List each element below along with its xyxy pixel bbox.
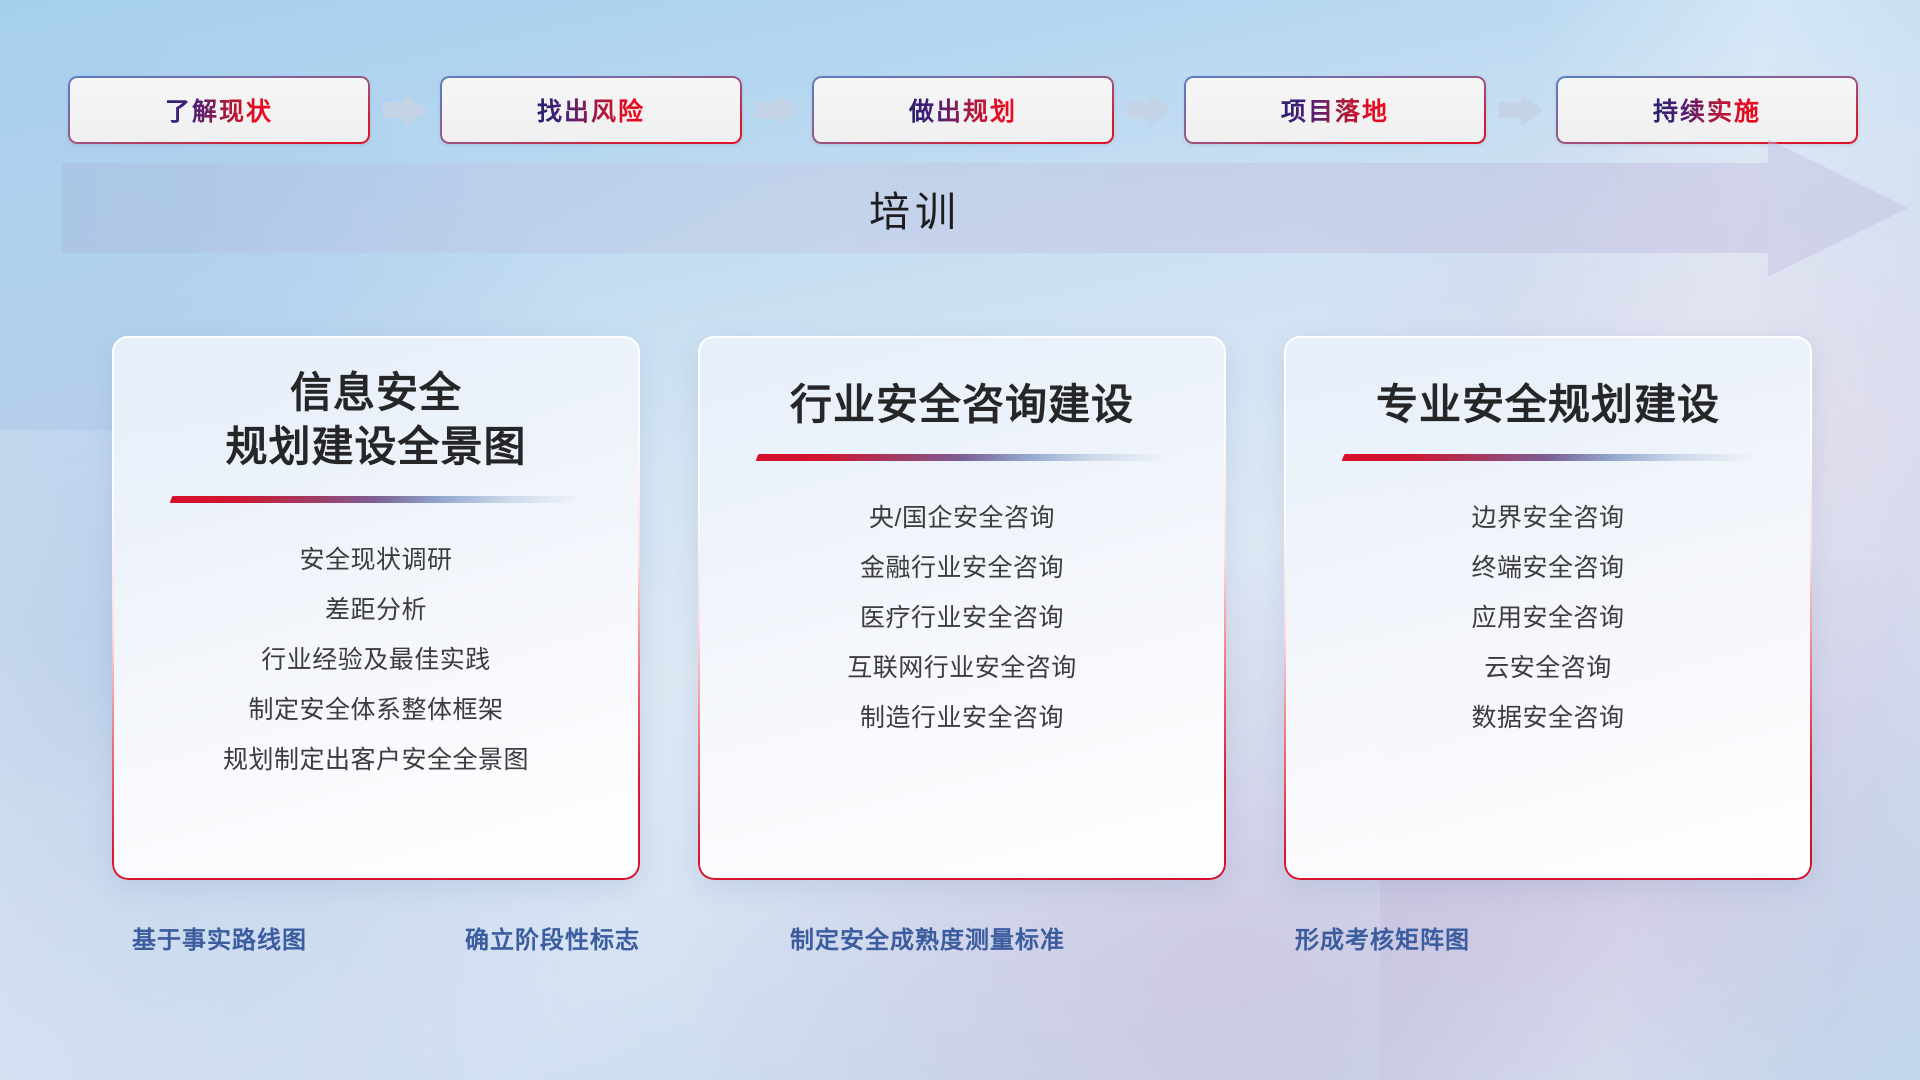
list-item: 安全现状调研 xyxy=(299,539,452,581)
list-item: 应用安全咨询 xyxy=(1471,597,1624,639)
banner-title: 培训 xyxy=(62,163,1768,253)
process-step-row: 了解现状 找出风险 做出规划 项目落地 持续实施 xyxy=(68,76,1858,144)
step-label-2: 找出风险 xyxy=(537,92,645,128)
slide-canvas: 了解现状 找出风险 做出规划 项目落地 持续实施 培训 xyxy=(0,0,1920,1080)
card-3[interactable]: 专业安全规划建设 边界安全咨询 终端安全咨询 应用安全咨询 云安全咨询 数据安全… xyxy=(1284,336,1812,880)
list-item: 医疗行业安全咨询 xyxy=(860,597,1064,639)
list-item: 终端安全咨询 xyxy=(1471,547,1624,589)
card-row: 信息安全 规划建设全景图 安全现状调研 差距分析 行业经验及最佳实践 制定安全体… xyxy=(112,336,1812,880)
step-label-3: 做出规划 xyxy=(909,92,1017,128)
banner-right-arrow-icon xyxy=(1768,139,1908,277)
step-box-1[interactable]: 了解现状 xyxy=(68,76,370,144)
step-label-5: 持续实施 xyxy=(1653,92,1761,128)
step-arrow-icon-1 xyxy=(383,93,427,127)
step-label-4: 项目落地 xyxy=(1281,92,1389,128)
card-1-divider xyxy=(170,496,583,503)
list-item: 金融行业安全咨询 xyxy=(860,547,1064,589)
footer-caption-4: 形成考核矩阵图 xyxy=(1295,920,1470,955)
step-box-3[interactable]: 做出规划 xyxy=(812,76,1114,144)
step-box-5[interactable]: 持续实施 xyxy=(1556,76,1858,144)
step-box-4[interactable]: 项目落地 xyxy=(1184,76,1486,144)
step-box-2[interactable]: 找出风险 xyxy=(440,76,742,144)
step-arrow-icon-4 xyxy=(1499,93,1543,127)
footer-caption-3: 制定安全成熟度测量标准 xyxy=(790,920,1065,955)
card-3-title: 专业安全规划建设 xyxy=(1376,378,1720,432)
list-item: 制造行业安全咨询 xyxy=(860,697,1064,739)
list-item: 差距分析 xyxy=(325,589,427,631)
card-3-divider xyxy=(1342,454,1755,461)
card-1-title: 信息安全 规划建设全景图 xyxy=(225,366,526,474)
footer-caption-1: 基于事实路线图 xyxy=(132,920,307,955)
footer-caption-2: 确立阶段性标志 xyxy=(465,920,640,955)
card-2-list: 央/国企安全咨询 金融行业安全咨询 医疗行业安全咨询 互联网行业安全咨询 制造行… xyxy=(847,497,1077,739)
list-item: 云安全咨询 xyxy=(1484,647,1612,689)
list-item: 数据安全咨询 xyxy=(1471,697,1624,739)
list-item: 边界安全咨询 xyxy=(1471,497,1624,539)
step-label-1: 了解现状 xyxy=(165,92,273,128)
list-item: 规划制定出客户安全全景图 xyxy=(223,739,529,781)
card-1[interactable]: 信息安全 规划建设全景图 安全现状调研 差距分析 行业经验及最佳实践 制定安全体… xyxy=(112,336,640,880)
list-item: 行业经验及最佳实践 xyxy=(261,639,491,681)
card-2-divider xyxy=(756,454,1169,461)
footer-caption-row: 基于事实路线图 确立阶段性标志 制定安全成熟度测量标准 形成考核矩阵图 xyxy=(0,920,1920,964)
card-2[interactable]: 行业安全咨询建设 央/国企安全咨询 金融行业安全咨询 医疗行业安全咨询 互联网行… xyxy=(698,336,1226,880)
step-arrow-icon-3 xyxy=(1127,93,1171,127)
step-arrow-icon-2 xyxy=(755,93,799,127)
card-3-list: 边界安全咨询 终端安全咨询 应用安全咨询 云安全咨询 数据安全咨询 xyxy=(1471,497,1624,739)
card-1-list: 安全现状调研 差距分析 行业经验及最佳实践 制定安全体系整体框架 规划制定出客户… xyxy=(223,539,529,781)
list-item: 央/国企安全咨询 xyxy=(869,497,1055,539)
list-item: 互联网行业安全咨询 xyxy=(847,647,1077,689)
training-banner: 培训 xyxy=(62,163,1858,253)
card-2-title: 行业安全咨询建设 xyxy=(790,378,1134,432)
list-item: 制定安全体系整体框架 xyxy=(248,689,503,731)
